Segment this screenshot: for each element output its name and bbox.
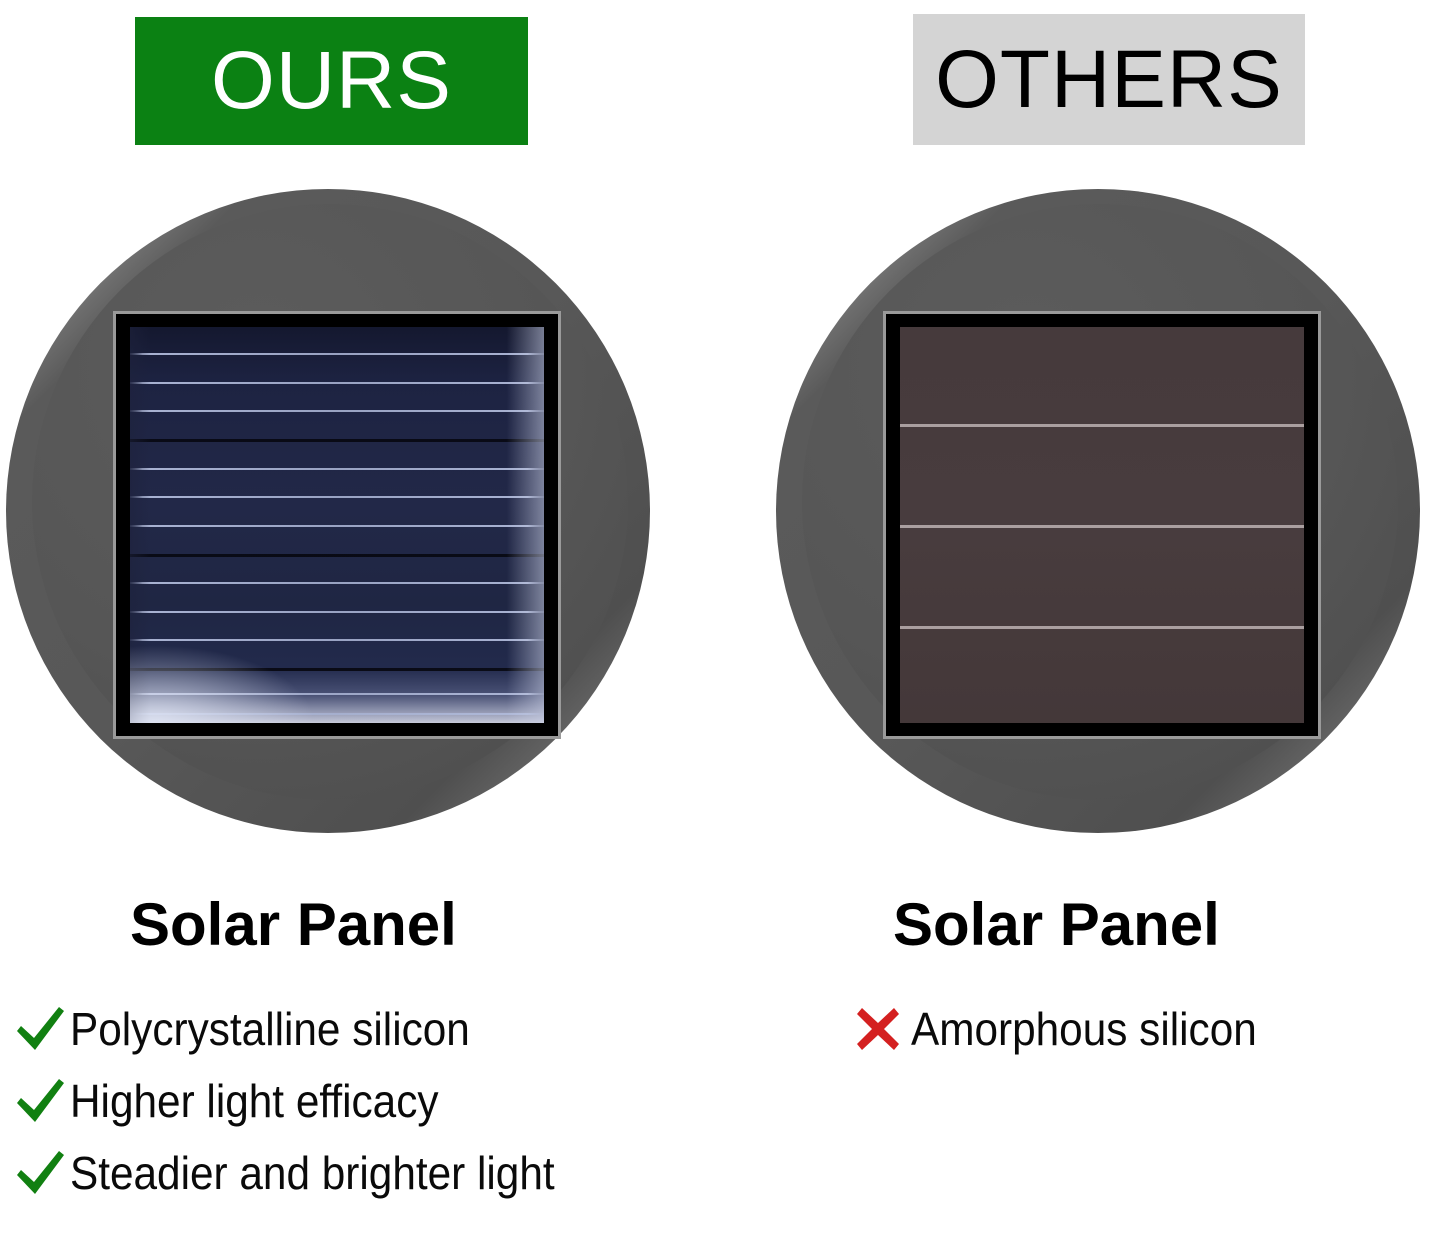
panel-gridline-finger xyxy=(130,353,544,355)
panel-gridline-finger xyxy=(130,639,544,641)
panel-gridline-finger xyxy=(130,382,544,384)
panel-gridline-finger xyxy=(130,582,544,584)
banner-others: OTHERS xyxy=(913,14,1305,145)
check-icon-svg xyxy=(14,1005,66,1053)
feature-list-ours: Polycrystalline siliconHigher light effi… xyxy=(14,1000,714,1216)
panel-gridline-busbar xyxy=(130,668,544,671)
panel-gridline-finger xyxy=(130,410,544,412)
feature-list-others: Amorphous silicon xyxy=(855,1000,1415,1072)
panel-gridline-amorph xyxy=(900,626,1304,629)
panel-frame-others xyxy=(886,314,1318,736)
solar-panel-others xyxy=(883,311,1321,739)
panel-gridline-amorph xyxy=(900,525,1304,528)
panel-cell-amorphous xyxy=(900,327,1304,723)
feature-row: Steadier and brighter light xyxy=(14,1144,714,1202)
feature-row: Amorphous silicon xyxy=(855,1000,1415,1058)
solar-panel-ours xyxy=(113,311,561,739)
banner-ours: OURS xyxy=(135,17,528,145)
feature-row: Higher light efficacy xyxy=(14,1072,714,1130)
panel-gridline-finger xyxy=(130,611,544,613)
panel-frame-ours xyxy=(116,314,558,736)
panel-gridline-finger xyxy=(130,525,544,527)
panel-gridline-busbar xyxy=(130,554,544,557)
feature-row: Polycrystalline silicon xyxy=(14,1000,714,1058)
feature-label: Steadier and brighter light xyxy=(70,1150,555,1196)
check-icon xyxy=(14,1149,70,1197)
banner-ours-label: OURS xyxy=(211,40,452,122)
check-icon-svg xyxy=(14,1077,66,1125)
cross-icon xyxy=(855,1006,911,1052)
feature-label: Amorphous silicon xyxy=(911,1006,1257,1052)
feature-label: Higher light efficacy xyxy=(70,1078,439,1124)
panel-gridline-finger xyxy=(130,468,544,470)
banner-others-label: OTHERS xyxy=(935,39,1283,121)
panel-gridline-finger xyxy=(130,713,544,715)
check-icon-svg xyxy=(14,1149,66,1197)
feature-label: Polycrystalline silicon xyxy=(70,1006,470,1052)
panel-gridline-busbar xyxy=(130,439,544,442)
panel-gridline-finger xyxy=(130,496,544,498)
panel-gridline-finger xyxy=(130,693,544,695)
panel-cell-polycrystalline xyxy=(130,327,544,723)
panel-gridline-amorph xyxy=(900,424,1304,427)
cross-icon-svg xyxy=(855,1006,901,1052)
check-icon xyxy=(14,1077,70,1125)
panel-title-ours: Solar Panel xyxy=(130,895,457,955)
panel-title-others: Solar Panel xyxy=(893,895,1220,955)
check-icon xyxy=(14,1005,70,1053)
